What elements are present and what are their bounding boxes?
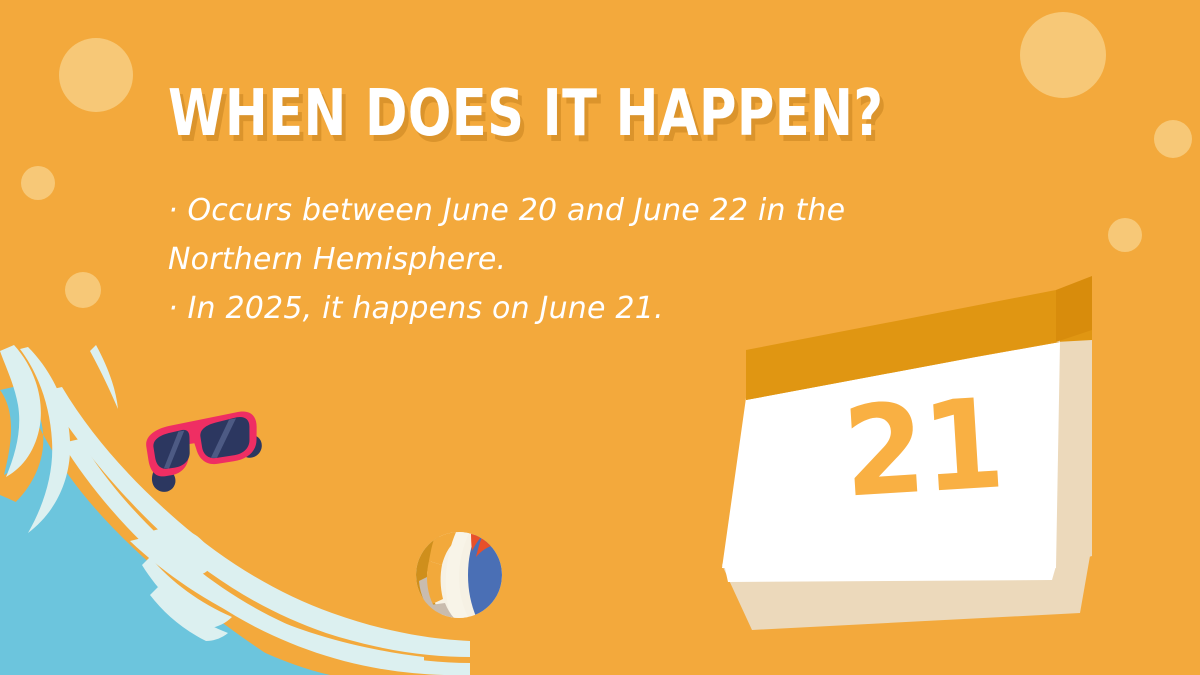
decorative-circle [59, 38, 133, 112]
decorative-circle [21, 166, 55, 200]
decorative-circle [1154, 120, 1192, 158]
beach-ball-icon [409, 525, 509, 625]
beachball-shade [439, 617, 481, 625]
slide-canvas: WHEN DOES IT HAPPEN? · Occurs between Ju… [0, 0, 1200, 675]
wave-icon [0, 345, 470, 675]
decorative-circle [1108, 218, 1142, 252]
sunglasses-icon [138, 408, 268, 498]
page-title: WHEN DOES IT HAPPEN? [168, 82, 884, 146]
calendar-fold [724, 564, 1056, 582]
bullet-line-1: · Occurs between June 20 and June 22 in … [168, 186, 968, 235]
decorative-circle [1020, 12, 1106, 98]
calendar-day-number: 21 [840, 382, 1006, 515]
decorative-circle [65, 272, 101, 308]
